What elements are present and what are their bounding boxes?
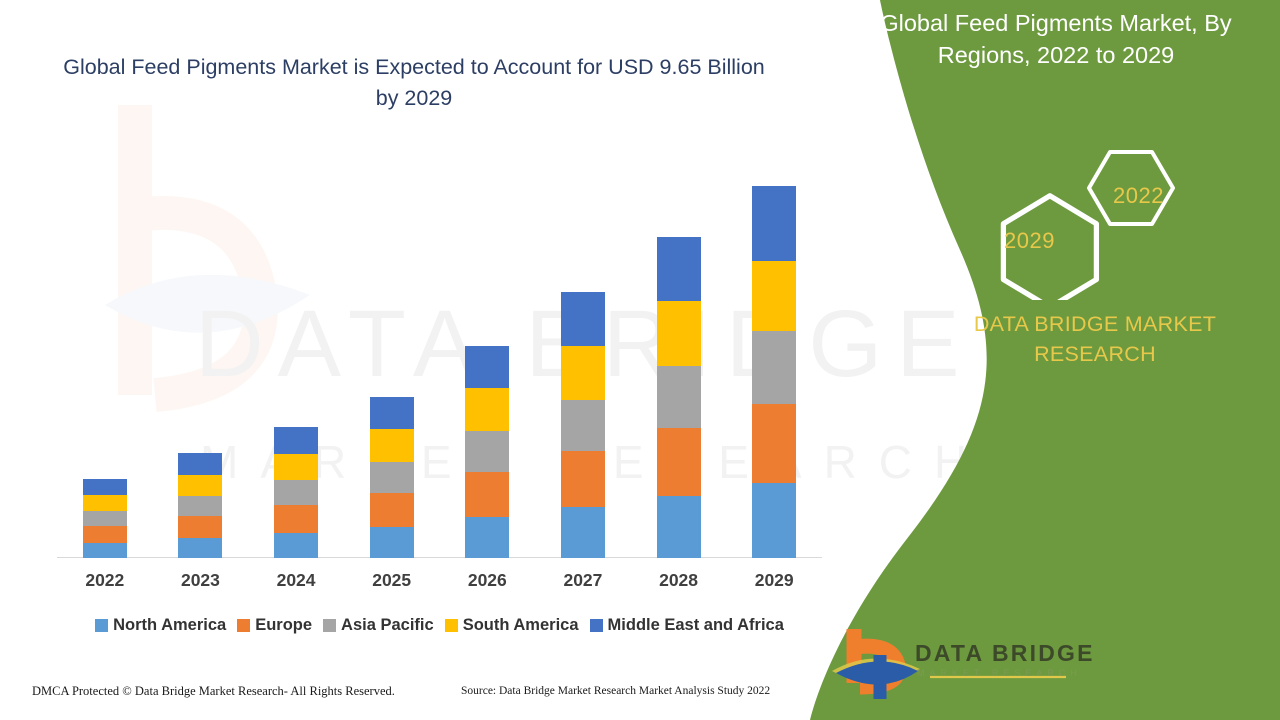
bar-2023	[178, 453, 222, 558]
hexagon-badge-group: 2022 2029	[960, 140, 1220, 300]
x-axis-label-2025: 2025	[344, 570, 440, 591]
legend-swatch-icon	[323, 619, 336, 632]
bar-segment-2028-middle-east-and-africa	[657, 237, 701, 301]
bar-segment-2029-asia-pacific	[752, 331, 796, 404]
legend-swatch-icon	[590, 619, 603, 632]
bar-segment-2025-europe	[370, 493, 414, 527]
bar-segment-2023-south-america	[178, 475, 222, 496]
hexagon-year-front: 2022	[1113, 183, 1164, 209]
legend-label: South America	[463, 616, 579, 635]
bar-segment-2027-europe	[561, 451, 605, 507]
bar-segment-2022-middle-east-and-africa	[83, 479, 127, 495]
bar-segment-2028-asia-pacific	[657, 366, 701, 428]
x-axis-label-2028: 2028	[631, 570, 727, 591]
panel-title: Global Feed Pigments Market, By Regions,…	[856, 8, 1256, 72]
bar-segment-2023-middle-east-and-africa	[178, 453, 222, 475]
bar-segment-2025-north-america	[370, 527, 414, 558]
legend-item-europe[interactable]: Europe	[237, 616, 312, 635]
bar-segment-2026-south-america	[465, 388, 509, 431]
chart-plot-area	[57, 160, 822, 558]
legend-item-south-america[interactable]: South America	[445, 616, 579, 635]
bar-segment-2022-europe	[83, 526, 127, 543]
bar-segment-2026-asia-pacific	[465, 431, 509, 472]
bar-segment-2022-north-america	[83, 543, 127, 558]
x-axis-label-2027: 2027	[535, 570, 631, 591]
bar-segment-2029-south-america	[752, 261, 796, 331]
x-axis-label-2026: 2026	[439, 570, 535, 591]
hexagon-outline-icon	[960, 140, 1220, 300]
brand-panel: Global Feed Pigments Market, By Regions,…	[810, 0, 1280, 720]
legend-label: North America	[113, 616, 226, 635]
bar-segment-2026-middle-east-and-africa	[465, 346, 509, 388]
bar-2024	[274, 427, 318, 558]
legend-label: Middle East and Africa	[608, 616, 784, 635]
bar-2028	[657, 237, 701, 558]
x-axis-label-2023: 2023	[152, 570, 248, 591]
legend-item-north-america[interactable]: North America	[95, 616, 226, 635]
bar-segment-2024-asia-pacific	[274, 480, 318, 505]
bar-segment-2023-asia-pacific	[178, 496, 222, 516]
data-bridge-logo-wordmark: DATA BRIDGE	[915, 640, 1095, 667]
bar-segment-2024-north-america	[274, 533, 318, 558]
bar-segment-2029-middle-east-and-africa	[752, 186, 796, 261]
bar-segment-2022-south-america	[83, 495, 127, 511]
bar-segment-2028-south-america	[657, 301, 701, 366]
bar-segment-2029-north-america	[752, 483, 796, 558]
chart-legend: North AmericaEuropeAsia PacificSouth Ame…	[57, 616, 822, 635]
x-axis-label-2022: 2022	[57, 570, 153, 591]
bar-segment-2023-europe	[178, 516, 222, 538]
footer-source: Source: Data Bridge Market Research Mark…	[461, 685, 770, 697]
x-axis-label-2024: 2024	[248, 570, 344, 591]
bar-segment-2024-middle-east-and-africa	[274, 427, 318, 454]
bar-segment-2025-south-america	[370, 429, 414, 462]
footer-copyright: DMCA Protected © Data Bridge Market Rese…	[32, 684, 395, 699]
bar-segment-2026-europe	[465, 472, 509, 517]
bar-segment-2026-north-america	[465, 517, 509, 558]
bar-segment-2023-north-america	[178, 538, 222, 558]
chart-x-axis: 20222023202420252026202720282029	[57, 566, 822, 598]
bar-2027	[561, 292, 605, 558]
bar-2026	[465, 346, 509, 558]
bar-segment-2028-europe	[657, 428, 701, 496]
legend-label: Asia Pacific	[341, 616, 434, 635]
bar-segment-2024-europe	[274, 505, 318, 533]
legend-swatch-icon	[237, 619, 250, 632]
legend-item-asia-pacific[interactable]: Asia Pacific	[323, 616, 434, 635]
legend-swatch-icon	[95, 619, 108, 632]
bar-2022	[83, 479, 127, 558]
legend-swatch-icon	[445, 619, 458, 632]
brand-name: DATA BRIDGE MARKET RESEARCH	[930, 310, 1260, 369]
bar-segment-2024-south-america	[274, 454, 318, 480]
data-bridge-logo-tagline: MARKET RESEARCH	[917, 668, 1082, 678]
x-axis-label-2029: 2029	[726, 570, 822, 591]
legend-item-middle-east-and-africa[interactable]: Middle East and Africa	[590, 616, 784, 635]
bar-2025	[370, 397, 414, 558]
bar-segment-2029-europe	[752, 404, 796, 483]
legend-label: Europe	[255, 616, 312, 635]
bar-2029	[752, 186, 796, 558]
bar-segment-2025-middle-east-and-africa	[370, 397, 414, 429]
hexagon-year-back: 2029	[1004, 228, 1055, 254]
bar-segment-2027-north-america	[561, 507, 605, 558]
bar-segment-2025-asia-pacific	[370, 462, 414, 493]
bar-segment-2027-asia-pacific	[561, 400, 605, 451]
bar-segment-2027-middle-east-and-africa	[561, 292, 605, 346]
bar-segment-2028-north-america	[657, 496, 701, 558]
stacked-bar-chart: 20222023202420252026202720282029 North A…	[0, 0, 840, 600]
bar-segment-2027-south-america	[561, 346, 605, 400]
bar-segment-2022-asia-pacific	[83, 511, 127, 526]
